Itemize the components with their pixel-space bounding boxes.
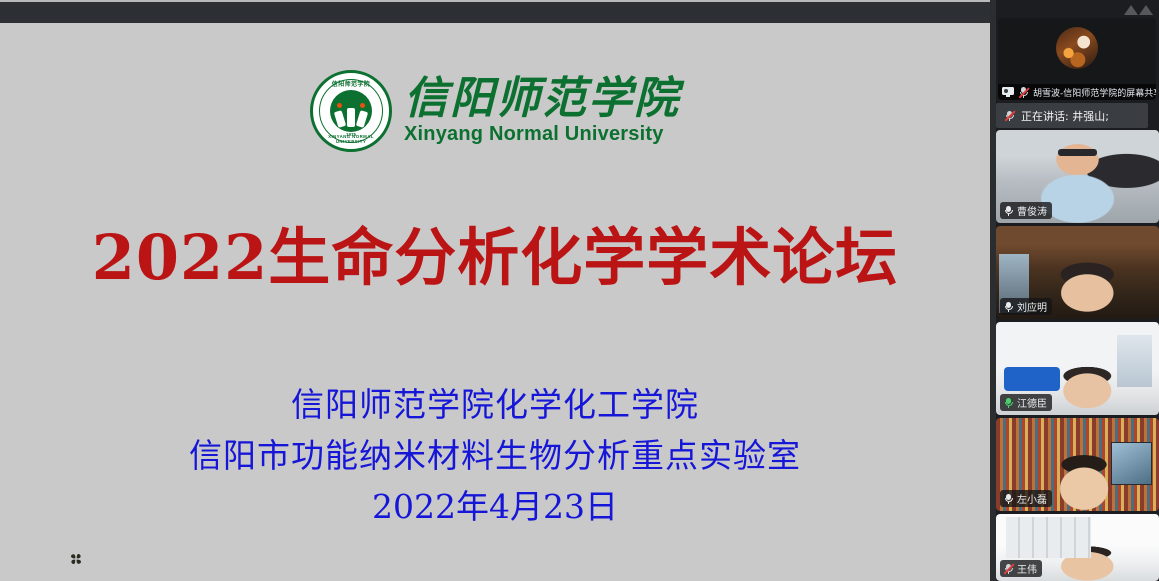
mic-muted-icon xyxy=(1003,563,1014,575)
participant-video-sidebar[interactable]: 胡雪波-信阳师范学院的屏幕共享 正在讲话: 井强山; 曹俊涛 xyxy=(990,0,1159,581)
participant-name: 江德臣 xyxy=(1017,395,1047,410)
screen-share-label: 胡雪波-信阳师范学院的屏幕共享 xyxy=(1033,86,1156,99)
participant-name: 左小磊 xyxy=(1017,491,1047,506)
university-logo: 信阳师范学院 XINYANG NORMAL UNIVERSITY 1975 信阳… xyxy=(0,70,990,152)
slide-date: 2022年4月23日 xyxy=(0,481,990,532)
avatar xyxy=(1056,27,1098,69)
crest-emblem xyxy=(330,90,372,132)
participant-tile-1[interactable]: 曹俊涛 xyxy=(996,130,1159,223)
presenter-toolbar-strip[interactable] xyxy=(0,2,990,23)
participant-tile-4[interactable]: 左小磊 xyxy=(996,418,1159,511)
zoom-meeting-window: 信阳师范学院 XINYANG NORMAL UNIVERSITY 1975 信阳… xyxy=(0,0,1159,581)
participant-tile-5[interactable]: 王伟 xyxy=(996,514,1159,581)
mic-on-icon xyxy=(1003,493,1014,505)
participant-name: 刘应明 xyxy=(1017,299,1047,314)
participant-name: 王伟 xyxy=(1017,561,1037,576)
participant-name-badge: 左小磊 xyxy=(1000,490,1052,507)
participant-tile-3[interactable]: 江德臣 xyxy=(996,322,1159,415)
crest-top-text: 信阳师范学院 xyxy=(313,79,389,88)
participant-name-badge: 王伟 xyxy=(1000,560,1042,577)
monitor-icon xyxy=(1002,87,1014,97)
shared-screen-region[interactable]: 信阳师范学院 XINYANG NORMAL UNIVERSITY 1975 信阳… xyxy=(0,0,990,581)
crest-figures xyxy=(336,105,366,127)
participant-tile-2[interactable]: 刘应明 xyxy=(996,226,1159,319)
active-speaker-banner: 正在讲话: 井强山; xyxy=(996,103,1148,128)
crest-year: 1975 xyxy=(313,132,389,137)
mic-active-icon xyxy=(1003,397,1014,409)
slide-subtitle-2: 信阳市功能纳米材料生物分析重点实验室 xyxy=(0,430,990,481)
mic-on-icon xyxy=(1003,205,1014,217)
double-chevron-icon xyxy=(1124,5,1153,15)
university-crest-icon: 信阳师范学院 XINYANG NORMAL UNIVERSITY 1975 xyxy=(310,70,392,152)
screen-share-label-bar: 胡雪波-信阳师范学院的屏幕共享 xyxy=(998,84,1156,100)
participant-name-badge: 曹俊涛 xyxy=(1000,202,1052,219)
mic-muted-icon xyxy=(1018,86,1029,98)
mic-muted-icon xyxy=(1004,110,1015,122)
pinwheel-logo-icon xyxy=(68,551,84,567)
logo-name-cn: 信阳师范学院 xyxy=(404,76,680,122)
logo-name-en: Xinyang Normal University xyxy=(404,123,680,146)
participant-name-badge: 刘应明 xyxy=(1000,298,1052,315)
mic-on-icon xyxy=(1003,301,1014,313)
participant-name: 曹俊涛 xyxy=(1017,203,1047,218)
active-speaker-text: 正在讲话: 井强山; xyxy=(1021,108,1109,124)
screen-share-preview-tile[interactable]: 胡雪波-信阳师范学院的屏幕共享 xyxy=(998,18,1156,100)
slide-subtitles: 信阳师范学院化学化工学院 信阳市功能纳米材料生物分析重点实验室 2022年4月2… xyxy=(0,379,990,532)
logo-wordmark: 信阳师范学院 Xinyang Normal University xyxy=(404,76,680,146)
participant-name-badge: 江德臣 xyxy=(1000,394,1052,411)
slide-subtitle-1: 信阳师范学院化学化工学院 xyxy=(0,379,990,430)
slide-title: 2022生命分析化学学术论坛 xyxy=(0,224,990,292)
presentation-slide: 信阳师范学院 XINYANG NORMAL UNIVERSITY 1975 信阳… xyxy=(0,24,990,581)
